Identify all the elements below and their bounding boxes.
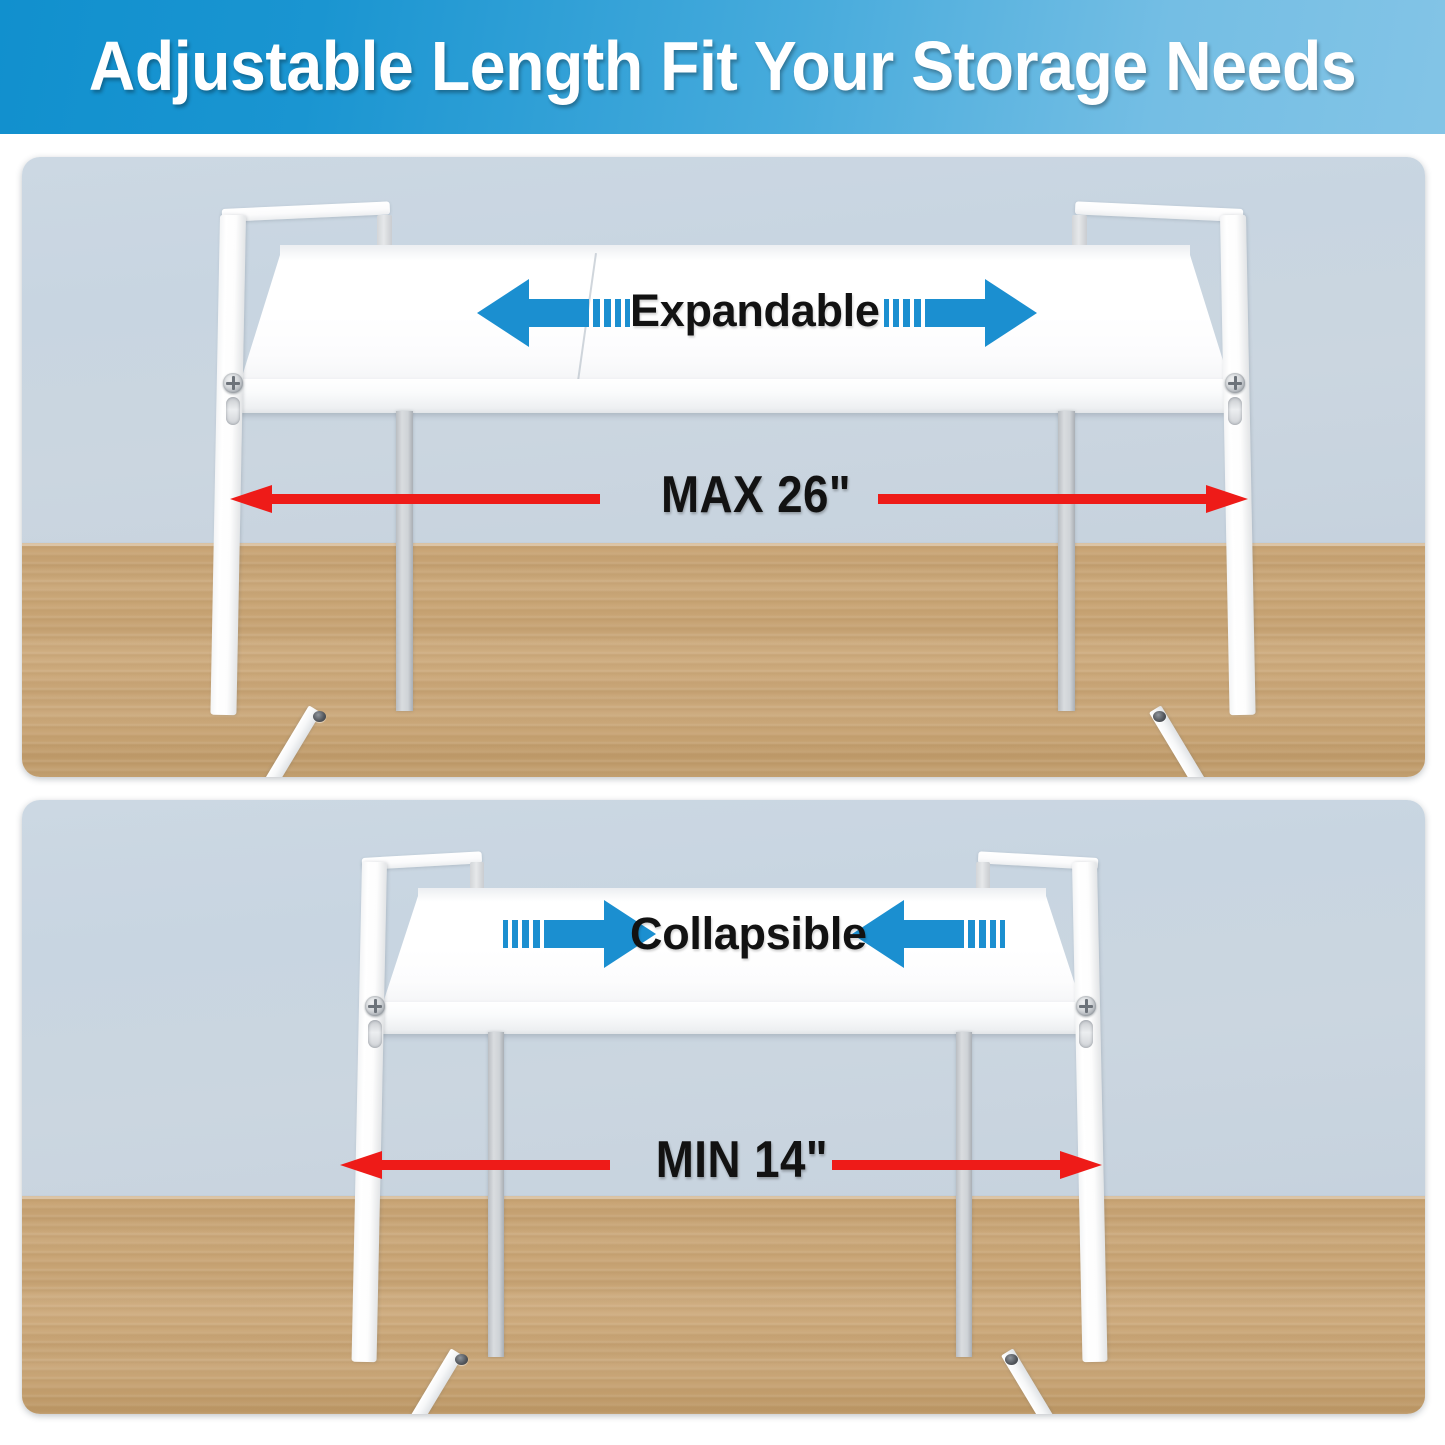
screw-foot-left-upper	[455, 1354, 468, 1365]
shelf-back-lip	[280, 245, 1190, 261]
rail-top-right	[1075, 201, 1243, 222]
dimension-arrow-right	[878, 482, 1248, 516]
label-collapsible: Collapsible	[630, 908, 867, 960]
adjust-slot-left	[368, 1020, 382, 1048]
dimension-arrow-right	[832, 1148, 1102, 1182]
adjust-slot-right	[1228, 397, 1242, 425]
screw-foot-left-upper	[313, 711, 326, 722]
panel-expanded: Expandable MAX 26"	[22, 157, 1425, 777]
expand-arrow-right-icon	[877, 277, 1037, 349]
post-left	[352, 862, 387, 1362]
inner-leg-right	[1058, 411, 1075, 711]
rack-collapsed	[22, 800, 1425, 1414]
collapse-arrow-right-icon	[852, 898, 1008, 970]
screw-foot-right-upper	[1153, 711, 1166, 722]
screw-right-post	[1225, 373, 1245, 393]
inner-leg-left	[396, 411, 413, 711]
adjust-slot-left	[226, 397, 240, 425]
shelf-front-apron	[238, 379, 1232, 413]
rail-top-left	[222, 201, 390, 222]
post-right	[1072, 862, 1107, 1362]
shelf-front-apron	[380, 1002, 1084, 1034]
infographic-canvas: Adjustable Length Fit Your Storage Needs	[0, 0, 1445, 1445]
screw-foot-right-upper	[1005, 1354, 1018, 1365]
header-banner: Adjustable Length Fit Your Storage Needs	[0, 0, 1445, 134]
screw-left-post	[365, 996, 385, 1016]
screw-left-post	[223, 373, 243, 393]
post-right	[1220, 215, 1256, 715]
inner-leg-left	[488, 1032, 504, 1357]
label-min-dimension: MIN 14"	[656, 1130, 828, 1190]
screw-right-post	[1076, 996, 1096, 1016]
label-max-dimension: MAX 26"	[661, 465, 851, 525]
foot-brace-left	[219, 705, 321, 777]
inner-leg-right	[956, 1032, 972, 1357]
dimension-arrow-left	[230, 482, 600, 516]
foot-brace-left	[363, 1348, 463, 1414]
label-expandable: Expandable	[630, 285, 880, 337]
page-title: Adjustable Length Fit Your Storage Needs	[58, 16, 1387, 116]
adjust-slot-right	[1079, 1020, 1093, 1048]
expand-arrow-left-icon	[477, 277, 637, 349]
post-left	[210, 215, 246, 715]
panel-collapsed: Collapsible MIN 14"	[22, 800, 1425, 1414]
dimension-arrow-left	[340, 1148, 610, 1182]
